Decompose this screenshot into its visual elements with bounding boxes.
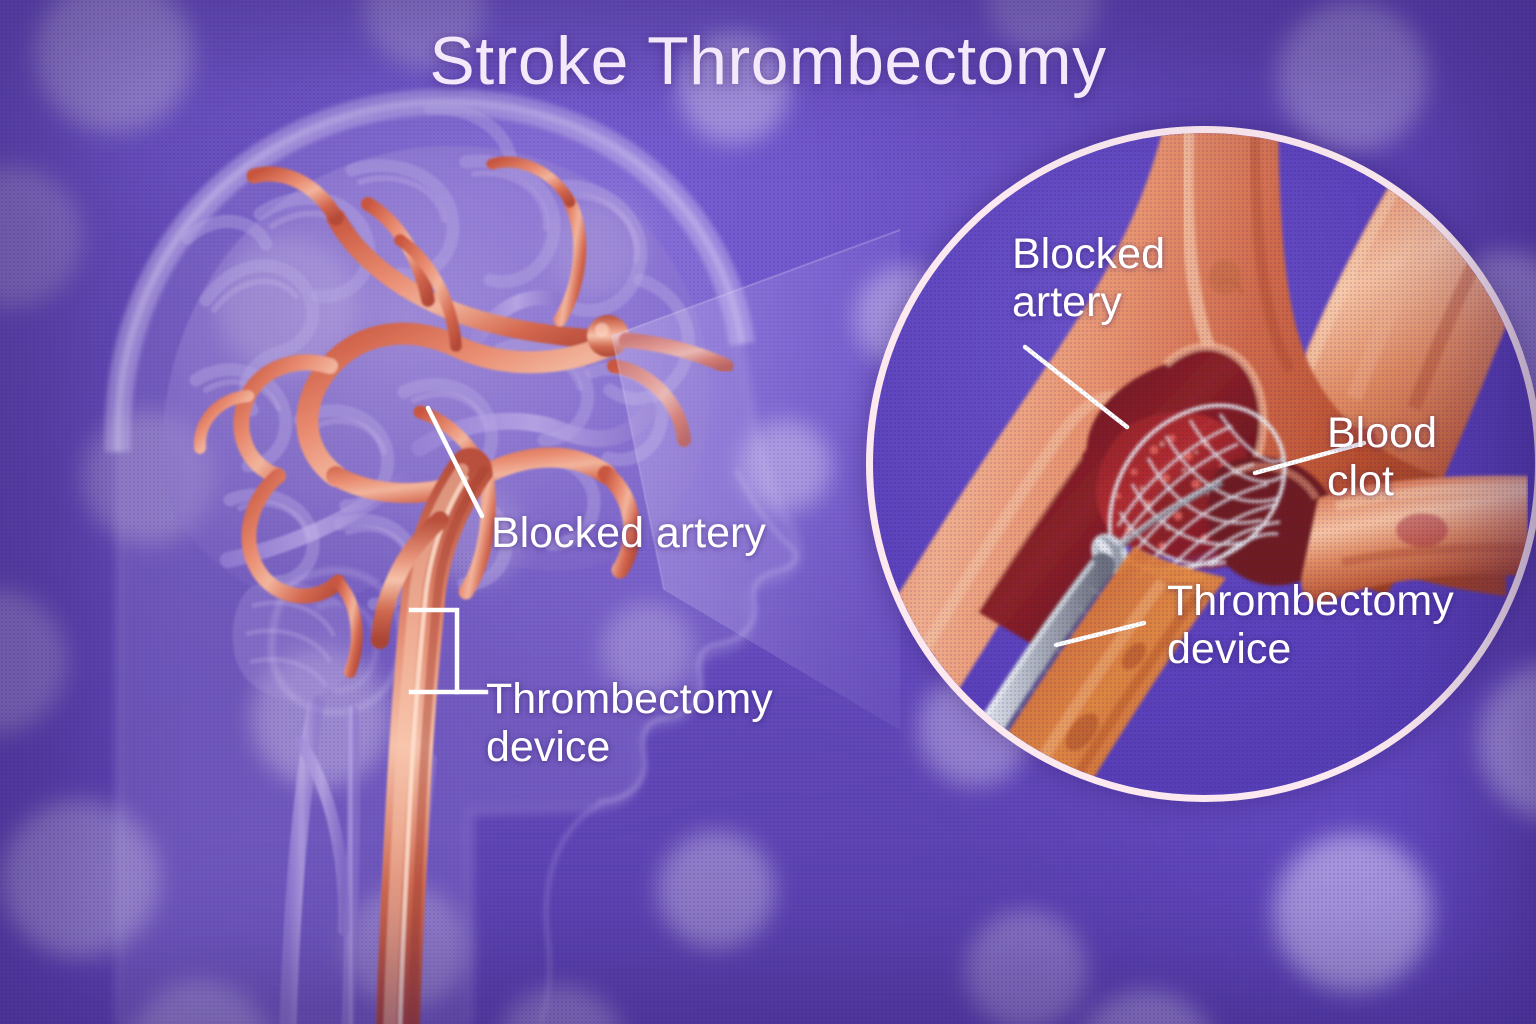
label-line-1: Blood [1327,409,1437,457]
label-line-2: device [1167,625,1291,673]
vignette [0,0,1536,1024]
label-thrombectomy-device-inset: Thrombectomydevice [1167,577,1454,673]
label-line-2: artery [1012,278,1122,326]
label-line-2: clot [1327,457,1394,505]
label-line-2: device [486,723,610,771]
label-line-1: Blocked [1012,230,1165,278]
label-blocked-artery-inset: Blockedartery [1012,230,1165,326]
label-thrombectomy-device-main: Thrombectomydevice [486,675,773,771]
label-blood-clot-inset: Bloodclot [1327,409,1437,505]
label-blocked-artery-main: Blocked artery [491,509,766,557]
label-line-1: Thrombectomy [1167,577,1454,625]
page-title: Stroke Thrombectomy [0,22,1536,100]
label-line-1: Thrombectomy [486,675,773,723]
illustration-canvas: Stroke Thrombectomy Blocked artery Throm… [0,0,1536,1024]
